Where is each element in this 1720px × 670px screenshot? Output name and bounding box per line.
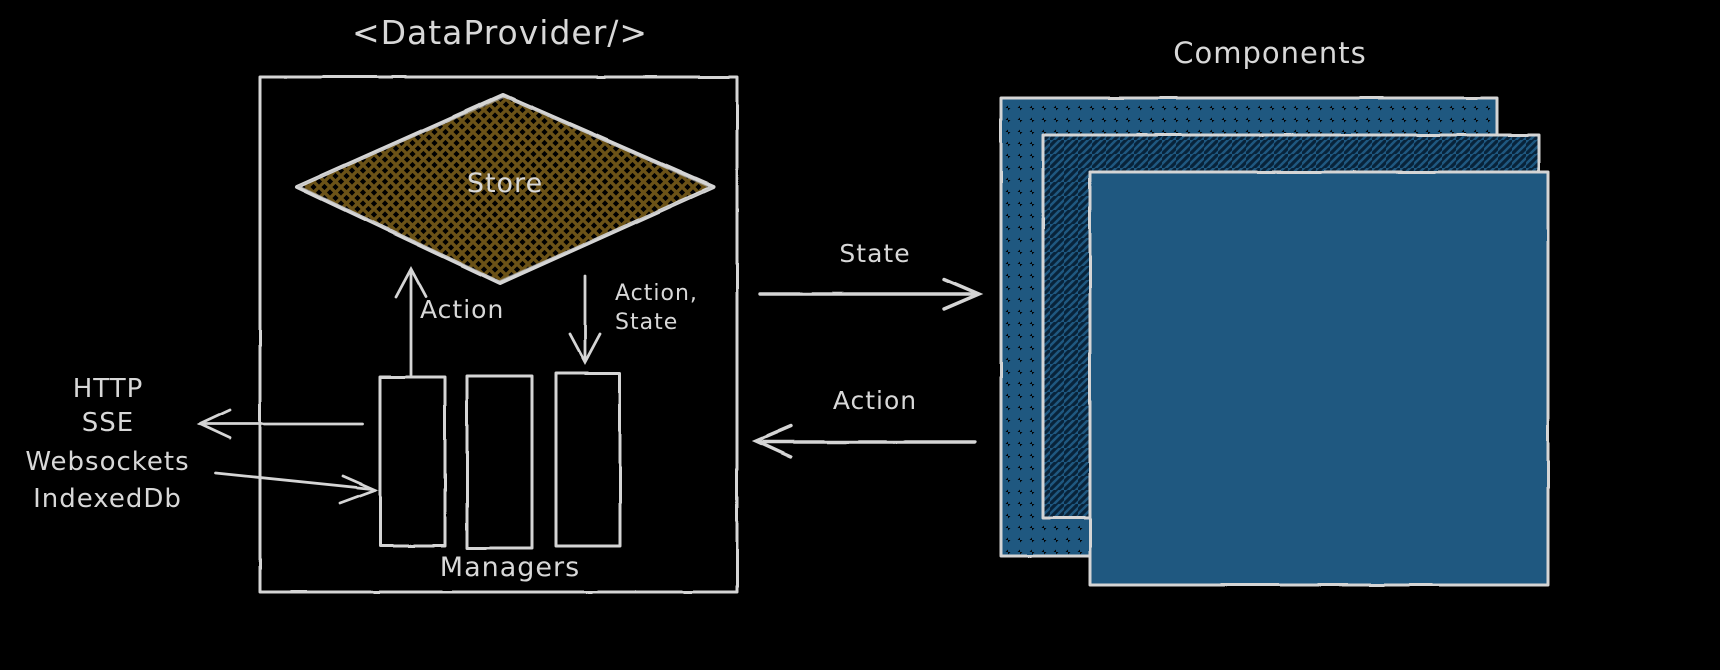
component-cards [1001, 98, 1548, 585]
transport-label-sse: SSE [8, 408, 208, 439]
transport-label-indexeddb: IndexedDb [0, 484, 215, 515]
arrow-transport-out [200, 410, 362, 438]
transport-label-websockets: Websockets [0, 447, 215, 478]
arrow-action-left [756, 426, 975, 457]
transport-arrows [200, 410, 375, 503]
arrow-label-action-up: Action [420, 295, 550, 325]
page-title-data-provider: <DataProvider/> [250, 14, 750, 53]
page-title-components: Components [1060, 36, 1480, 70]
managers-label: Managers [400, 552, 620, 584]
manager-box [467, 376, 532, 548]
diagram-canvas: <DataProvider/> Components Store Action … [0, 0, 1720, 670]
manager-boxes [380, 373, 620, 548]
store-label: Store [380, 168, 630, 200]
manager-box [556, 373, 620, 546]
transport-label-http: HTTP [8, 374, 208, 405]
arrow-transport-in [216, 473, 375, 503]
architecture-diagram-svg [0, 0, 1720, 670]
arrow-label-action-state: Action, State [615, 280, 745, 337]
arrow-state-right [760, 279, 979, 309]
component-card-front [1090, 172, 1548, 585]
manager-box [380, 377, 445, 546]
arrow-action-state-down [570, 276, 600, 362]
arrow-label-action: Action [790, 386, 960, 416]
external-arrows [756, 279, 979, 457]
arrow-label-state: State [790, 239, 960, 269]
